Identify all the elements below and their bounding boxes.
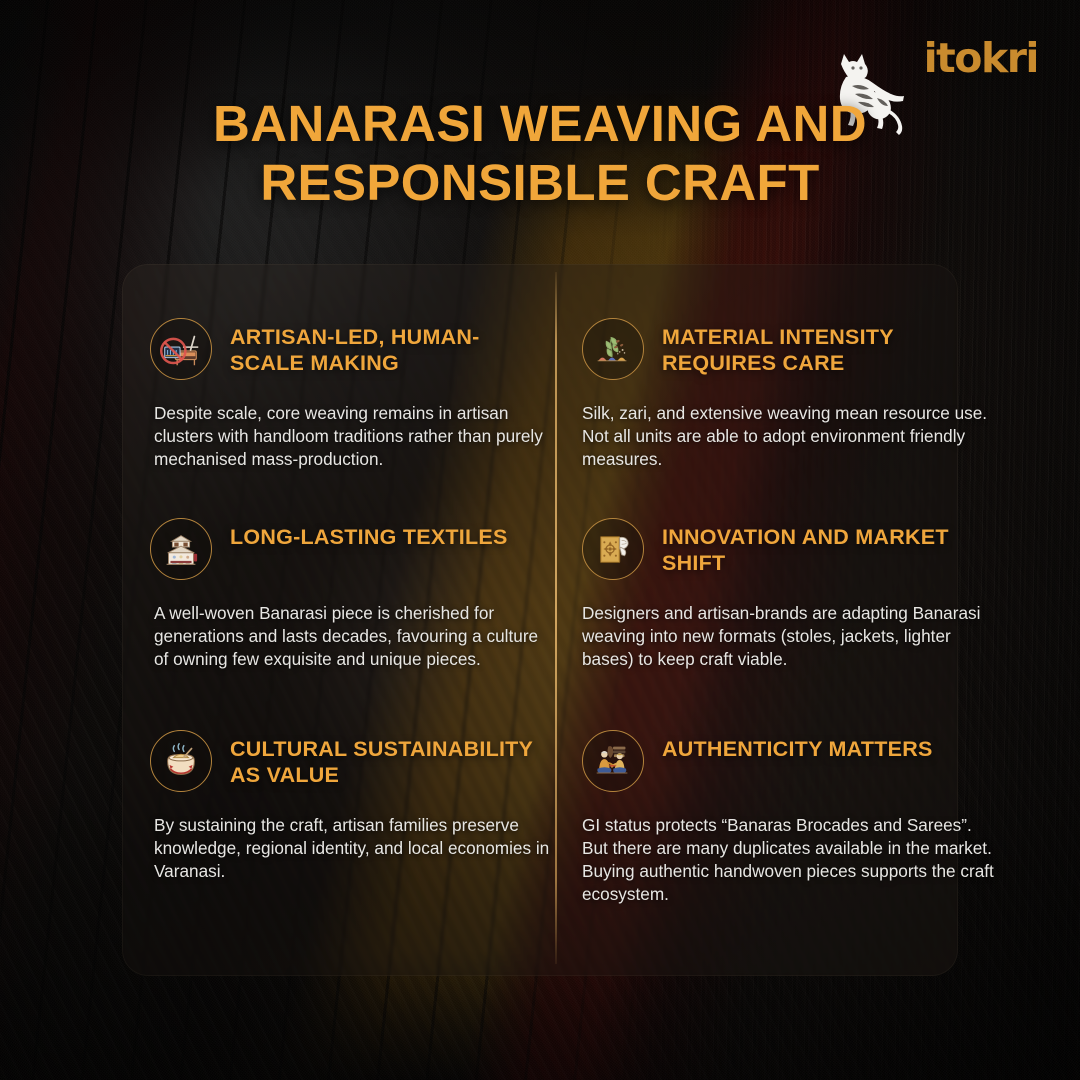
card-title: ARTISAN-LED, HUMAN-SCALE MAKING	[230, 318, 550, 376]
card-header: INNOVATION AND MARKET SHIFT	[582, 518, 994, 580]
card-header: ARTISAN-LED, HUMAN-SCALE MAKING	[150, 318, 550, 380]
card-title: MATERIAL INTENSITY REQUIRES CARE	[662, 318, 994, 376]
two-seated-artisans-icon	[582, 730, 644, 792]
page-title: BANARASI WEAVING AND RESPONSIBLE CRAFT	[0, 94, 1080, 212]
card-body: By sustaining the craft, artisan familie…	[154, 814, 550, 883]
card-title: LONG-LASTING TEXTILES	[230, 518, 508, 550]
card-material-intensity: MATERIAL INTENSITY REQUIRES CARE Silk, z…	[582, 318, 994, 471]
card-header: AUTHENTICITY MATTERS	[582, 730, 994, 792]
card-innovation-market-shift: INNOVATION AND MARKET SHIFT Designers an…	[582, 518, 994, 671]
steaming-clay-pot-icon	[150, 730, 212, 792]
card-body: Silk, zari, and extensive weaving mean r…	[582, 402, 994, 471]
card-title: AUTHENTICITY MATTERS	[662, 730, 933, 762]
page-title-line-1: BANARASI WEAVING AND	[213, 95, 867, 152]
card-body: GI status protects “Banaras Brocades and…	[582, 814, 994, 906]
no-power-loom-icon	[150, 318, 212, 380]
itokri-logo[interactable]: itokri	[924, 38, 1038, 79]
card-title: CULTURAL SUSTAINABILITY AS VALUE	[230, 730, 550, 788]
itokri-logo-text: itokri	[924, 38, 1038, 79]
artisan-workshop-building-icon	[150, 518, 212, 580]
card-authenticity-matters: AUTHENTICITY MATTERS GI status protects …	[582, 730, 994, 906]
card-artisan-led: ARTISAN-LED, HUMAN-SCALE MAKING Despite …	[150, 318, 550, 471]
card-body: A well-woven Banarasi piece is cherished…	[154, 602, 550, 671]
card-cultural-sustainability: CULTURAL SUSTAINABILITY AS VALUE By sust…	[150, 730, 550, 883]
header: itokri BANARASI WEAVING AND RESPONSIBLE …	[0, 0, 1080, 262]
hand-holding-brocade-icon	[582, 518, 644, 580]
card-title: INNOVATION AND MARKET SHIFT	[662, 518, 994, 576]
card-body: Despite scale, core weaving remains in a…	[154, 402, 550, 471]
card-header: LONG-LASTING TEXTILES	[150, 518, 550, 580]
card-long-lasting-textiles: LONG-LASTING TEXTILES A well-woven Banar…	[150, 518, 550, 671]
natural-dye-leaves-icon	[582, 318, 644, 380]
infographic-canvas: itokri BANARASI WEAVING AND RESPONSIBLE …	[0, 0, 1080, 1080]
card-body: Designers and artisan-brands are adaptin…	[582, 602, 994, 671]
card-header: CULTURAL SUSTAINABILITY AS VALUE	[150, 730, 550, 792]
card-header: MATERIAL INTENSITY REQUIRES CARE	[582, 318, 994, 380]
page-title-line-2: RESPONSIBLE CRAFT	[260, 154, 819, 211]
column-divider	[555, 272, 557, 964]
